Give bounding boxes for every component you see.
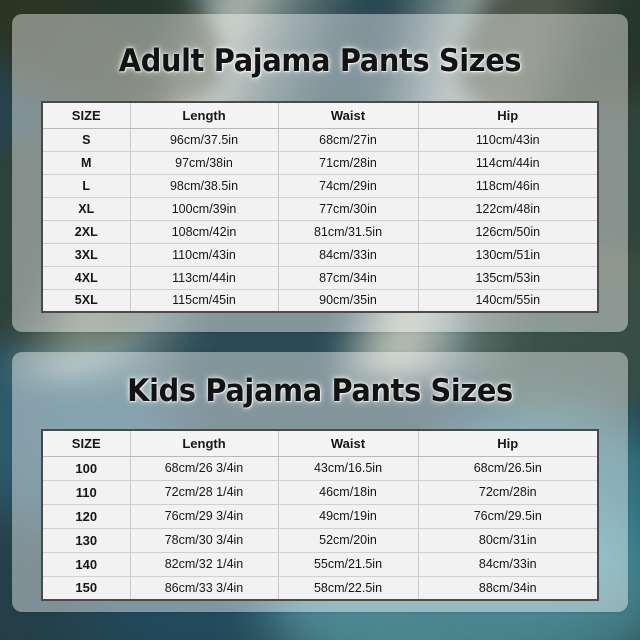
cell-hip: 135cm/53in [418,266,598,289]
table-header-row: SIZE Length Waist Hip [42,102,598,128]
cell-hip: 118cm/46in [418,174,598,197]
cell-waist: 84cm/33in [278,243,418,266]
table-row: 120 76cm/29 3/4in 49cm/19in 76cm/29.5in [42,504,598,528]
cell-hip: 114cm/44in [418,151,598,174]
cell-size: M [42,151,130,174]
cell-waist: 46cm/18in [278,480,418,504]
cell-hip: 76cm/29.5in [418,504,598,528]
cell-hip: 84cm/33in [418,552,598,576]
cell-length: 68cm/26 3/4in [130,456,278,480]
cell-length: 76cm/29 3/4in [130,504,278,528]
column-header-size: SIZE [42,430,130,456]
cell-hip: 68cm/26.5in [418,456,598,480]
cell-size: 120 [42,504,130,528]
cell-length: 86cm/33 3/4in [130,576,278,600]
size-chart-page: Adult Pajama Pants Sizes SIZE Length Wai… [0,0,640,640]
cell-hip: 126cm/50in [418,220,598,243]
table-row: 130 78cm/30 3/4in 52cm/20in 80cm/31in [42,528,598,552]
column-header-waist: Waist [278,102,418,128]
cell-length: 82cm/32 1/4in [130,552,278,576]
column-header-hip: Hip [418,430,598,456]
cell-length: 78cm/30 3/4in [130,528,278,552]
cell-waist: 74cm/29in [278,174,418,197]
cell-length: 72cm/28 1/4in [130,480,278,504]
adult-section-title: Adult Pajama Pants Sizes [34,14,607,77]
cell-waist: 87cm/34in [278,266,418,289]
adult-size-card: Adult Pajama Pants Sizes SIZE Length Wai… [12,14,628,332]
cell-waist: 71cm/28in [278,151,418,174]
cell-size: L [42,174,130,197]
cell-waist: 52cm/20in [278,528,418,552]
table-row: 110 72cm/28 1/4in 46cm/18in 72cm/28in [42,480,598,504]
column-header-waist: Waist [278,430,418,456]
column-header-hip: Hip [418,102,598,128]
cell-length: 96cm/37.5in [130,128,278,151]
cell-waist: 77cm/30in [278,197,418,220]
cell-length: 113cm/44in [130,266,278,289]
cell-size: 3XL [42,243,130,266]
cell-waist: 58cm/22.5in [278,576,418,600]
column-header-length: Length [130,102,278,128]
table-row: M 97cm/38in 71cm/28in 114cm/44in [42,151,598,174]
table-header-row: SIZE Length Waist Hip [42,430,598,456]
cell-size: 140 [42,552,130,576]
table-row: XL 100cm/39in 77cm/30in 122cm/48in [42,197,598,220]
kids-size-table: SIZE Length Waist Hip 100 68cm/26 3/4in … [41,429,599,601]
column-header-size: SIZE [42,102,130,128]
cell-length: 98cm/38.5in [130,174,278,197]
cell-hip: 88cm/34in [418,576,598,600]
cell-size: 4XL [42,266,130,289]
cell-hip: 72cm/28in [418,480,598,504]
cell-size: 5XL [42,289,130,312]
cell-waist: 49cm/19in [278,504,418,528]
cell-size: 150 [42,576,130,600]
cell-size: 100 [42,456,130,480]
cell-length: 100cm/39in [130,197,278,220]
table-row: 4XL 113cm/44in 87cm/34in 135cm/53in [42,266,598,289]
table-row: 140 82cm/32 1/4in 55cm/21.5in 84cm/33in [42,552,598,576]
cell-size: 2XL [42,220,130,243]
cell-hip: 110cm/43in [418,128,598,151]
table-row: 150 86cm/33 3/4in 58cm/22.5in 88cm/34in [42,576,598,600]
cell-length: 110cm/43in [130,243,278,266]
cell-waist: 81cm/31.5in [278,220,418,243]
cell-waist: 43cm/16.5in [278,456,418,480]
cell-size: XL [42,197,130,220]
kids-section-title: Kids Pajama Pants Sizes [34,352,607,407]
cell-length: 97cm/38in [130,151,278,174]
adult-size-table: SIZE Length Waist Hip S 96cm/37.5in 68cm… [41,101,599,313]
cell-waist: 90cm/35in [278,289,418,312]
cell-hip: 130cm/51in [418,243,598,266]
cell-hip: 122cm/48in [418,197,598,220]
table-row: 5XL 115cm/45in 90cm/35in 140cm/55in [42,289,598,312]
cell-size: S [42,128,130,151]
kids-size-card: Kids Pajama Pants Sizes SIZE Length Wais… [12,352,628,612]
cell-size: 110 [42,480,130,504]
table-row: S 96cm/37.5in 68cm/27in 110cm/43in [42,128,598,151]
column-header-length: Length [130,430,278,456]
table-row: 100 68cm/26 3/4in 43cm/16.5in 68cm/26.5i… [42,456,598,480]
cell-waist: 55cm/21.5in [278,552,418,576]
table-row: L 98cm/38.5in 74cm/29in 118cm/46in [42,174,598,197]
cell-length: 108cm/42in [130,220,278,243]
cell-hip: 80cm/31in [418,528,598,552]
cell-size: 130 [42,528,130,552]
table-row: 2XL 108cm/42in 81cm/31.5in 126cm/50in [42,220,598,243]
cell-length: 115cm/45in [130,289,278,312]
cell-waist: 68cm/27in [278,128,418,151]
cell-hip: 140cm/55in [418,289,598,312]
table-row: 3XL 110cm/43in 84cm/33in 130cm/51in [42,243,598,266]
